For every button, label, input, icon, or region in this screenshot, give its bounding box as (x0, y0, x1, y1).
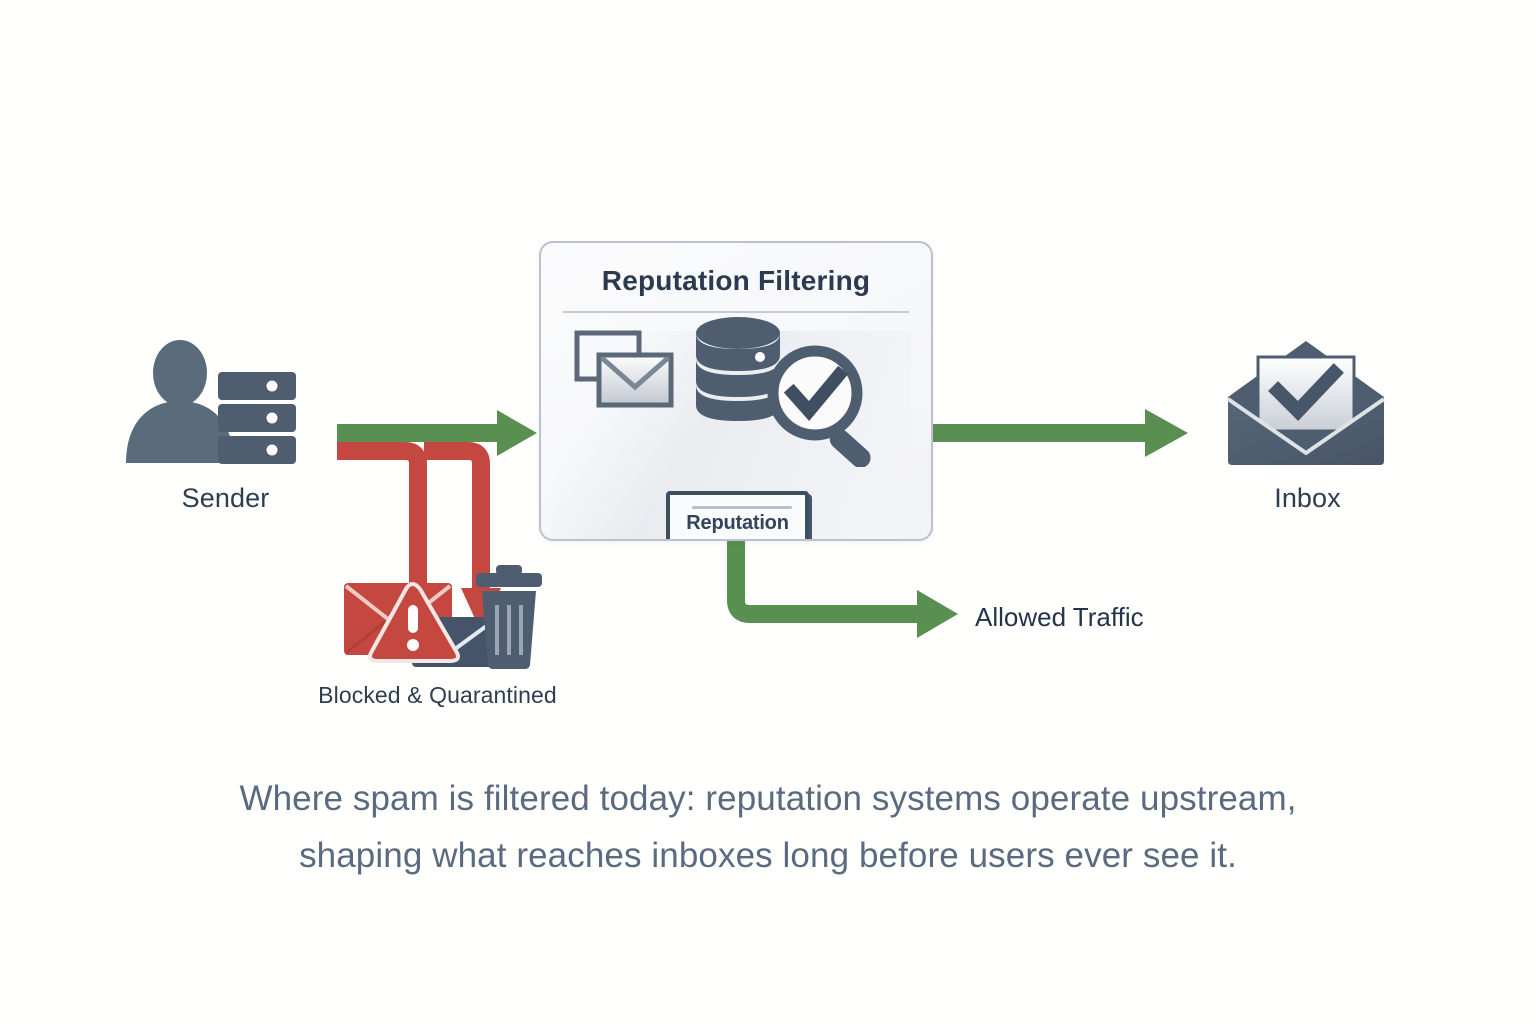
connector-filter-to-allowed (736, 540, 958, 638)
node-sender: Sender (118, 335, 333, 525)
caption: Where spam is filtered today: reputation… (150, 770, 1386, 884)
inbox-label: Inbox (1200, 483, 1415, 514)
doc-rule-top (692, 506, 792, 509)
stacked-envelopes-icon (573, 329, 677, 409)
magnifier-check-icon (763, 341, 889, 467)
caption-line-1: Where spam is filtered today: reputation… (150, 770, 1386, 827)
reputation-data-line1: Reputation (670, 512, 805, 535)
reputation-data-document: Reputation Data (666, 491, 809, 541)
card-icon-group: Reputation Data (541, 321, 931, 541)
reputation-data-line2: Data (670, 540, 805, 541)
connector-filter-to-inbox (933, 409, 1188, 457)
reputation-data-box: Reputation Data (666, 491, 809, 541)
node-blocked: Blocked & Quarantined (300, 565, 575, 725)
card-divider (563, 311, 909, 313)
card-title: Reputation Filtering (541, 265, 931, 297)
blocked-label: Blocked & Quarantined (300, 682, 575, 709)
reputation-filtering-card: Reputation Filtering (539, 241, 933, 541)
open-envelope-check-icon (1216, 335, 1396, 471)
caption-line-2: shaping what reaches inboxes long before… (150, 827, 1386, 884)
sender-label: Sender (118, 483, 333, 514)
user-server-icon (118, 335, 318, 465)
spam-trash-icon (338, 565, 558, 670)
allowed-traffic-label: Allowed Traffic (975, 602, 1144, 633)
diagram-canvas: Sender Inbox (0, 0, 1536, 1024)
node-inbox: Inbox (1200, 335, 1415, 525)
